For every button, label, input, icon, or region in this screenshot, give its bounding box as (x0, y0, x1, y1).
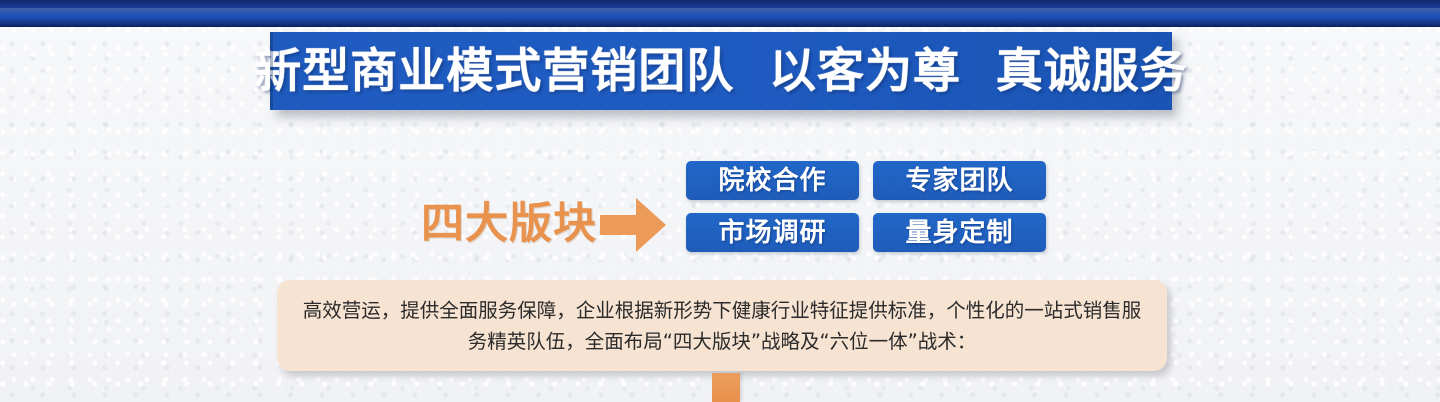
tag-school-cooperation[interactable]: 院校合作 (686, 161, 859, 200)
module-tag-grid: 院校合作 专家团队 市场调研 量身定制 (686, 161, 1046, 252)
description-card: 高效营运，提供全面服务保障，企业根据新形势下健康行业特征提供标准，个性化的一站式… (277, 280, 1167, 371)
tag-market-research[interactable]: 市场调研 (686, 213, 859, 252)
tag-expert-team[interactable]: 专家团队 (873, 161, 1046, 200)
tag-label: 市场调研 (718, 220, 826, 246)
tag-label: 院校合作 (718, 168, 826, 194)
page-root: 新型商业模式营销团队 以客为尊 真诚服务 四大版块 院校合作 专家团队 市场调研… (0, 0, 1440, 402)
top-blue-bar (0, 0, 1440, 27)
tag-label: 量身定制 (905, 220, 1013, 246)
top-bar-sheen (0, 8, 1440, 15)
section-label-four-modules: 四大版块 (421, 198, 591, 250)
tag-custom-tailored[interactable]: 量身定制 (873, 213, 1046, 252)
orange-connector-tab (712, 373, 740, 402)
tag-label: 专家团队 (905, 168, 1013, 194)
page-title: 新型商业模式营销团队 以客为尊 真诚服务 (254, 48, 1187, 95)
description-text: 高效营运，提供全面服务保障，企业根据新形势下健康行业特征提供标准，个性化的一站式… (302, 295, 1142, 357)
arrow-right-glyph (600, 197, 666, 253)
arrow-right-icon (600, 197, 666, 253)
headline-banner: 新型商业模式营销团队 以客为尊 真诚服务 (270, 32, 1172, 110)
